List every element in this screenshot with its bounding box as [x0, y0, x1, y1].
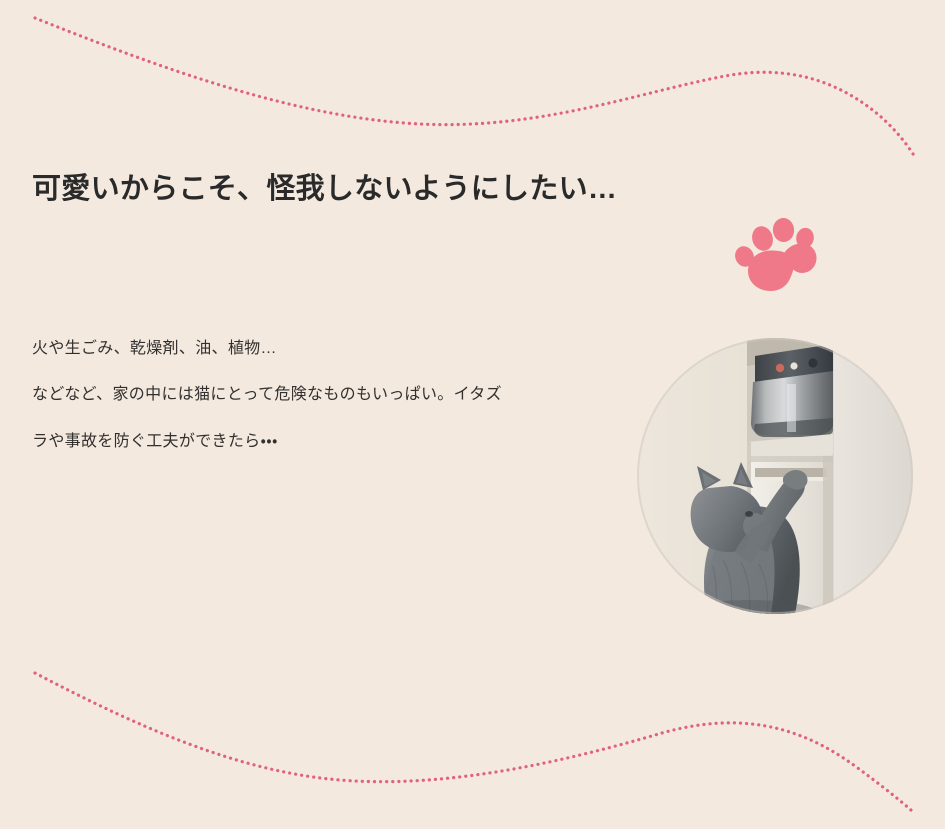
page-title: 可愛いからこそ、怪我しないようにしたい… [32, 167, 632, 212]
dotted-wave-top [35, 18, 915, 157]
body-copy: 火や生ごみ、乾燥剤、油、植物… などなど、家の中には猫にとって危険なものもいっぱ… [32, 326, 632, 465]
body-line-2: などなど、家の中には猫にとって危険なものもいっぱい。イタズ [32, 372, 632, 418]
cat-photo [637, 338, 913, 614]
paw-print-icon [735, 216, 819, 292]
cat-photo-illustration [637, 338, 913, 614]
page-root: .dotline { fill: none; stroke: #e0637a; … [0, 0, 945, 829]
body-line-1: 火や生ごみ、乾燥剤、油、植物… [32, 326, 632, 372]
dotted-wave-bottom [35, 673, 912, 811]
body-line-3: ラや事故を防ぐ工夫ができたら・・・ [32, 419, 632, 465]
